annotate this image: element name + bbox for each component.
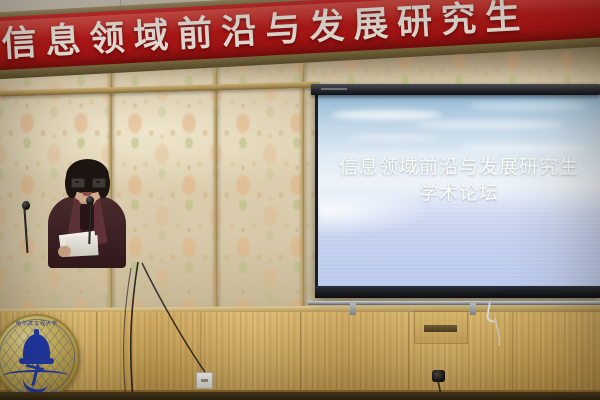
seal-top-text: 哈尔滨工程大学 xyxy=(0,320,80,327)
slide-title-line2: 学术论坛 xyxy=(318,180,600,206)
lecture-hall-photo: 信息领域前沿与发展研究生 信息领域前沿与发展研究生 学术论坛 xyxy=(0,0,600,400)
slide-title-line1: 信息领域前沿与发展研究生 xyxy=(339,156,579,178)
rail-bracket-right xyxy=(470,303,476,315)
slide-title: 信息领域前沿与发展研究生 学术论坛 xyxy=(318,154,600,206)
speaker-inner-top xyxy=(80,204,94,230)
floor xyxy=(0,392,600,400)
screen-housing xyxy=(311,84,600,95)
rail-bracket-left xyxy=(350,303,356,315)
slide-surface: 信息领域前沿与发展研究生 学术论坛 xyxy=(318,94,600,286)
screen-weight-bar xyxy=(315,286,600,298)
projection-screen: 信息领域前沿与发展研究生 学术论坛 xyxy=(315,91,600,298)
